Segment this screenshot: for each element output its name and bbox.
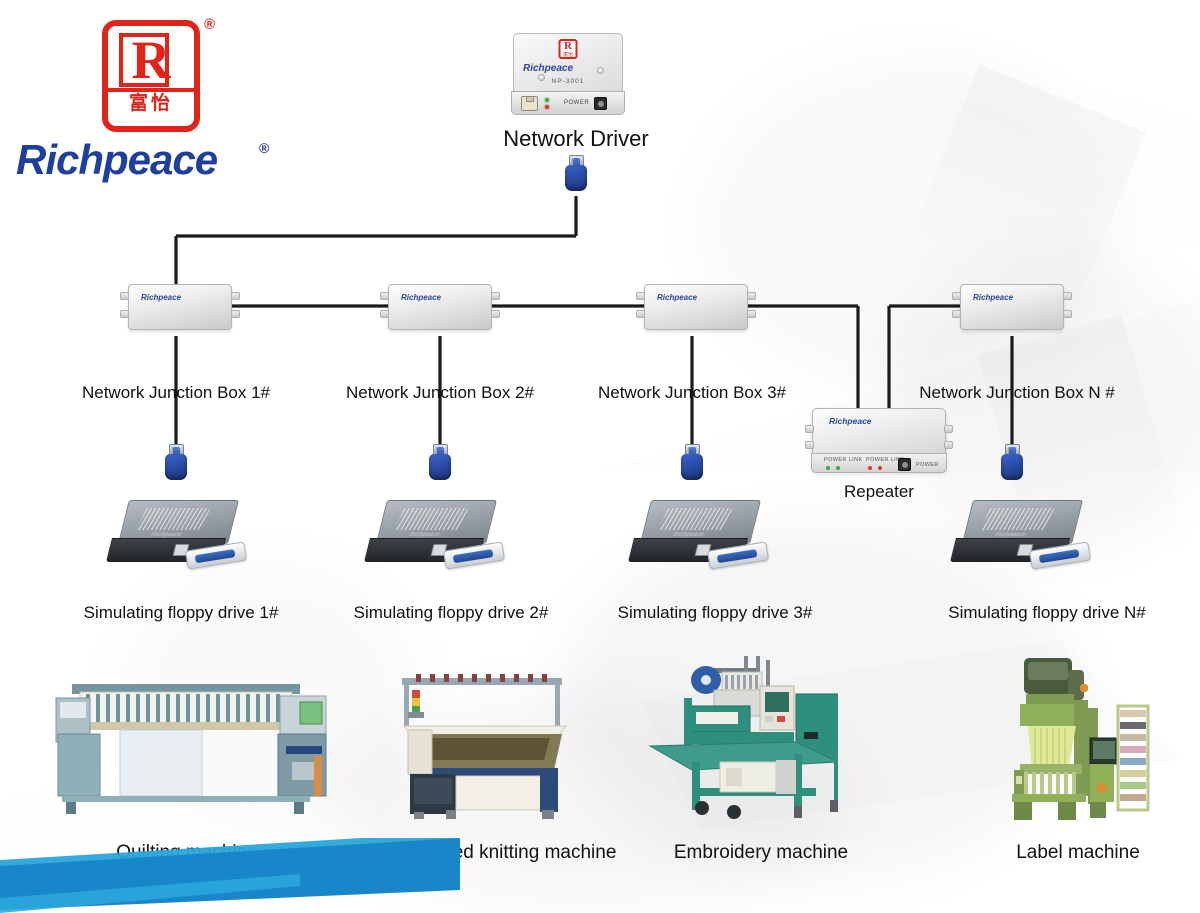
network-driver-device[interactable]: R富怡 Richpeace NP-3001 POWER [513, 33, 623, 115]
junction-box-3-label: Network Junction Box 3# [552, 383, 832, 403]
connector-tab-icon [120, 310, 129, 318]
usb-stick-band [717, 549, 758, 563]
floppy-drive-3-label: Simulating floppy drive 3# [570, 603, 860, 623]
floppy-drive-n-label: Simulating floppy drive N# [902, 603, 1192, 623]
connector-tab-icon [491, 310, 500, 318]
junction-box-2-label: Network Junction Box 2# [300, 383, 580, 403]
junction-box-body: Richpeace [644, 284, 748, 330]
repeater-brand-text: Richpeace [829, 416, 872, 426]
floppy-drive-2[interactable]: Richpeace [376, 500, 486, 564]
dc-power-jack-icon[interactable] [898, 458, 911, 471]
floppy-drive-2-label: Simulating floppy drive 2# [306, 603, 596, 623]
rj45-boot-icon [565, 165, 587, 191]
junction-box-body: Richpeace [388, 284, 492, 330]
quilting-machine-image [42, 668, 332, 818]
floppy-drive-3[interactable]: Richpeace [640, 500, 750, 564]
network-driver-label: Network Driver [426, 126, 726, 152]
junction-box-1-label: Network Junction Box 1# [36, 383, 316, 403]
connector-tab-icon [380, 292, 389, 300]
network-driver-logo-icon: R富怡 [559, 39, 578, 59]
vent-grille-icon [136, 508, 211, 530]
connector-tab-icon [1063, 292, 1072, 300]
network-driver-front-panel: POWER [511, 91, 625, 115]
rj45-port-icon[interactable] [521, 96, 538, 111]
junction-box-3[interactable]: Richpeace [644, 284, 748, 330]
connector-tab-icon [805, 441, 814, 449]
connector-tab-icon [747, 310, 756, 318]
floppy-drive-1[interactable]: Richpeace [118, 500, 228, 564]
connector-tab-icon [491, 292, 500, 300]
knitting-machine-image [390, 668, 580, 820]
led-red-icon [878, 466, 882, 470]
connector-tab-icon [944, 425, 953, 433]
diagram-canvas: R 富怡 ® Richpeace ® R富怡 [0, 0, 1200, 913]
rj45-plug-1 [163, 444, 189, 482]
junction-box-1[interactable]: Richpeace [128, 284, 232, 330]
network-driver-model-text: NP-3001 [514, 78, 622, 85]
junction-box-body: Richpeace [128, 284, 232, 330]
connector-tab-icon [636, 310, 645, 318]
connector-tab-icon [1063, 310, 1072, 318]
rj45-plug-3 [679, 444, 705, 482]
connector-tab-icon [231, 292, 240, 300]
led-green-icon [826, 466, 830, 470]
vent-grille-icon [980, 508, 1055, 530]
junction-box-2[interactable]: Richpeace [388, 284, 492, 330]
vent-grille-icon [658, 508, 733, 530]
label-machine-image [998, 652, 1158, 824]
rj45-boot-icon [1001, 454, 1023, 480]
usb-stick-band [453, 549, 494, 563]
embroidery-machine-image [648, 650, 838, 822]
embroidery-machine-label: Embroidery machine [616, 842, 906, 864]
led-red-icon [868, 466, 872, 470]
junction-box-brand-text: Richpeace [973, 293, 1013, 302]
connector-tab-icon [380, 310, 389, 318]
connector-tab-icon [805, 425, 814, 433]
junction-box-brand-text: Richpeace [657, 293, 697, 302]
junction-box-n[interactable]: Richpeace [960, 284, 1064, 330]
floppy-drive-n[interactable]: Richpeace [962, 500, 1072, 564]
led-red-icon [545, 105, 549, 109]
connector-tab-icon [231, 310, 240, 318]
led-green-icon [545, 98, 549, 102]
repeater-device[interactable]: Richpeace POWER LINK POWER LINK POWER [812, 408, 946, 472]
rj45-boot-icon [681, 454, 703, 480]
vent-grille-icon [394, 508, 469, 530]
connector-tab-icon [944, 441, 953, 449]
label-machine-label: Label machine [948, 842, 1200, 864]
floppy-drive-1-label: Simulating floppy drive 1# [36, 603, 326, 623]
dc-power-jack-icon[interactable] [594, 97, 607, 110]
connector-tab-icon [952, 310, 961, 318]
network-driver-brand-text: Richpeace [523, 63, 573, 74]
rj45-boot-icon [165, 454, 187, 480]
usb-stick-band [195, 549, 236, 563]
junction-box-body: Richpeace [960, 284, 1064, 330]
network-driver-top-shell: R富怡 Richpeace NP-3001 [513, 33, 623, 95]
junction-box-n-label: Network Junction Box N # [872, 383, 1162, 403]
rj45-boot-icon [429, 454, 451, 480]
screw-icon [597, 67, 604, 74]
connector-tab-icon [636, 292, 645, 300]
repeater-indicator-left-label: POWER LINK [824, 457, 863, 463]
connector-tab-icon [747, 292, 756, 300]
usb-stick-band [1039, 549, 1080, 563]
rj45-plug-driver [563, 155, 589, 193]
rj45-plug-2 [427, 444, 453, 482]
power-label: POWER [564, 100, 589, 106]
repeater-power-label: POWER [916, 462, 939, 468]
led-green-icon [836, 466, 840, 470]
junction-box-brand-text: Richpeace [141, 293, 181, 302]
bottom-banner [0, 838, 460, 913]
junction-box-brand-text: Richpeace [401, 293, 441, 302]
repeater-label: Repeater [789, 482, 969, 502]
connector-tab-icon [952, 292, 961, 300]
rj45-plug-n [999, 444, 1025, 482]
connector-tab-icon [120, 292, 129, 300]
repeater-front-panel: POWER LINK POWER LINK POWER [811, 453, 947, 473]
